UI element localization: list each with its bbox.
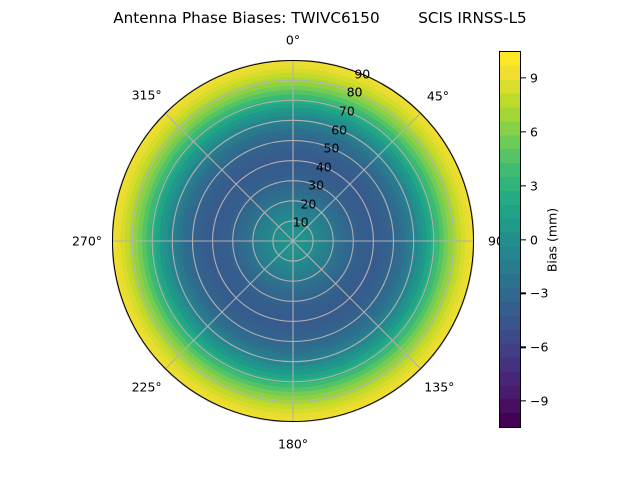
angular-tick-label: 270° [72, 234, 102, 249]
polar-data-disk [112, 60, 474, 422]
radial-tick-label: 70 [339, 103, 355, 118]
colorbar [499, 51, 521, 428]
colorbar-tickmark [521, 239, 526, 240]
colorbar-tick-label: −3 [530, 286, 548, 301]
colorbar-tickmark [521, 185, 526, 186]
radial-tick-label: 20 [300, 196, 316, 211]
colorbar-gradient [499, 51, 521, 428]
polar-chart-figure: Antenna Phase Biases: TWIVC6150 SCIS IRN… [0, 0, 640, 480]
colorbar-tick-label: 3 [530, 178, 538, 193]
colorbar-tickmark [521, 347, 526, 348]
colorbar-tickmark [521, 131, 526, 132]
colorbar-tick-label: −9 [530, 394, 548, 409]
polar-axes [112, 60, 474, 422]
radial-tick-label: 50 [324, 141, 340, 156]
polar-contour-fill [112, 60, 474, 422]
colorbar-tick-label: 9 [530, 70, 538, 85]
angular-tick-label: 225° [132, 380, 162, 395]
page-title: Antenna Phase Biases: TWIVC6150 SCIS IRN… [0, 9, 640, 27]
colorbar-tickmark [521, 77, 526, 78]
colorbar-tickmark [521, 400, 526, 401]
colorbar-tick-label: 6 [530, 124, 538, 139]
colorbar-tick-label: 0 [530, 232, 538, 247]
angular-tick-label: 315° [132, 87, 162, 102]
angular-tick-label: 180° [278, 437, 308, 452]
radial-tick-label: 80 [347, 85, 363, 100]
angular-tick-label: 0° [286, 33, 300, 48]
radial-tick-label: 30 [308, 178, 324, 193]
radial-tick-label: 90 [354, 66, 370, 81]
colorbar-axis-label: Bias (mm) [545, 208, 560, 272]
angular-tick-label: 45° [427, 89, 449, 104]
radial-tick-label: 40 [316, 159, 332, 174]
colorbar-tick-label: −6 [530, 340, 548, 355]
radial-tick-label: 10 [293, 215, 309, 230]
angular-tick-label: 135° [424, 380, 454, 395]
colorbar-tickmark [521, 293, 526, 294]
radial-tick-label: 60 [331, 122, 347, 137]
